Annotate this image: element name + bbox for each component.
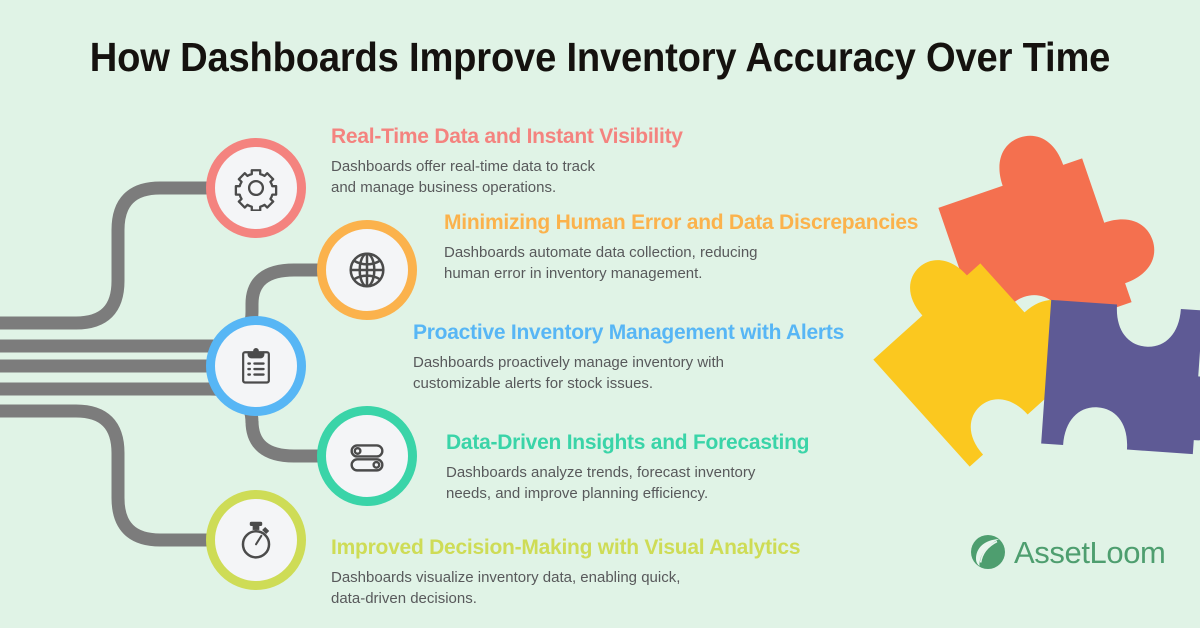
step-1-heading: Real-Time Data and Instant Visibility (331, 125, 751, 149)
step-3-heading: Proactive Inventory Management with Aler… (413, 321, 883, 345)
brand-logo[interactable]: AssetLoom (968, 532, 1165, 572)
step-3-text: Proactive Inventory Management with Aler… (413, 321, 883, 395)
step-2-heading: Minimizing Human Error and Data Discrepa… (444, 211, 944, 235)
step-5-icon-circle[interactable] (206, 490, 306, 590)
globe-icon (344, 247, 390, 293)
step-4-body: Dashboards analyze trends, forecast inve… (446, 462, 866, 505)
step-1-icon-circle[interactable] (206, 138, 306, 238)
toggle-switches-icon (344, 433, 390, 479)
step-4-text: Data-Driven Insights and Forecasting Das… (446, 431, 866, 505)
step-4-heading: Data-Driven Insights and Forecasting (446, 431, 866, 455)
step-5-body: Dashboards visualize inventory data, ena… (331, 567, 831, 610)
step-2-icon-circle[interactable] (317, 220, 417, 320)
gear-icon (233, 165, 279, 211)
step-2-body: Dashboards automate data collection, red… (444, 242, 944, 285)
leaf-circle-icon (968, 532, 1008, 572)
step-4-icon-circle[interactable] (317, 406, 417, 506)
brand-name: AssetLoom (1014, 537, 1165, 568)
step-2-text: Minimizing Human Error and Data Discrepa… (444, 211, 944, 285)
stopwatch-icon (233, 517, 279, 563)
infographic-canvas: How Dashboards Improve Inventory Accurac… (0, 0, 1200, 628)
step-1-text: Real-Time Data and Instant Visibility Da… (331, 125, 751, 199)
clipboard-checklist-icon (234, 344, 278, 388)
step-3-icon-circle[interactable] (206, 316, 306, 416)
step-1-body: Dashboards offer real-time data to track… (331, 156, 751, 199)
puzzle-piece-purple (1041, 300, 1200, 457)
step-5-heading: Improved Decision-Making with Visual Ana… (331, 536, 831, 560)
step-5-text: Improved Decision-Making with Visual Ana… (331, 536, 831, 610)
step-3-body: Dashboards proactively manage inventory … (413, 352, 883, 395)
